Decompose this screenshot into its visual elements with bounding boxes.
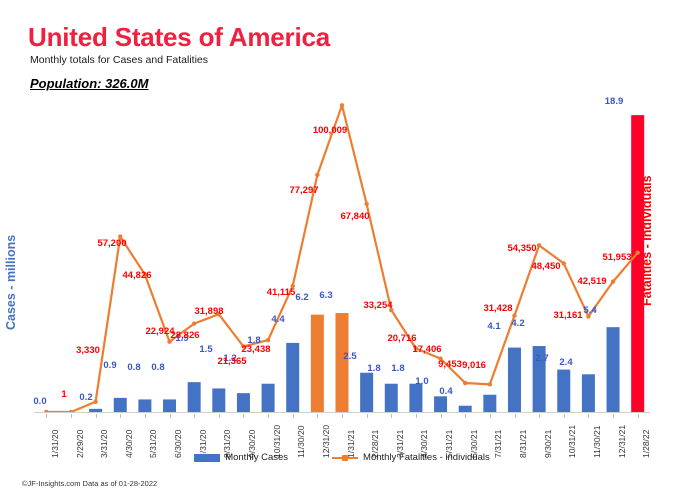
bar-12-31-20: [311, 315, 324, 412]
fatalities-value-label: 54,350: [501, 243, 543, 254]
bar-8-31-21: [508, 348, 521, 412]
x-axis-tick: [71, 414, 72, 418]
fatalities-point: [192, 321, 196, 325]
x-axis-tick: [539, 414, 540, 418]
fatalities-value-label: 42,519: [571, 276, 613, 287]
x-axis-tick: [613, 414, 614, 418]
x-axis-tick: [293, 414, 294, 418]
x-axis-tick: [243, 414, 244, 418]
bar-2-28-21: [360, 373, 373, 412]
fatalities-point: [488, 382, 492, 386]
fatalities-value-label: 21,365: [211, 356, 253, 367]
x-axis-tick: [441, 414, 442, 418]
bar-11-30-21: [582, 374, 595, 412]
cases-value-label: 4.2: [506, 318, 530, 329]
fatalities-value-label: 33,254: [357, 300, 399, 311]
cases-value-label: 6.3: [314, 290, 338, 301]
cases-value-label: 1.8: [362, 363, 386, 374]
x-axis-tick: [465, 414, 466, 418]
x-axis-tick: [367, 414, 368, 418]
bar-9-30-20: [237, 393, 250, 412]
fatalities-value-label: 44,826: [116, 270, 158, 281]
x-axis-line: [34, 412, 650, 413]
fatalities-value-label: 3,330: [67, 345, 109, 356]
bar-1-28-22: [631, 115, 644, 412]
cases-value-label: 4.1: [482, 321, 506, 332]
fatalities-value-label: 51,953: [596, 252, 638, 263]
x-axis-tick: [120, 414, 121, 418]
x-axis-tick: [170, 414, 171, 418]
fatalities-value-label: 31,161: [547, 310, 589, 321]
bar-5-31-21: [434, 396, 447, 412]
chart-page: United States of America Monthly totals …: [0, 0, 684, 496]
bar-8-31-20: [212, 388, 225, 412]
x-axis-tick: [588, 414, 589, 418]
fatalities-value-label: 57,200: [91, 238, 133, 249]
fatalities-value-label: 31,898: [188, 306, 230, 317]
cases-value-label: 0.8: [122, 362, 146, 373]
fatalities-value-label: 41,115: [260, 287, 302, 298]
cases-value-label: 0.9: [98, 360, 122, 371]
fatalities-point: [266, 338, 270, 342]
x-axis-tick: [391, 414, 392, 418]
cases-value-label: 0.4: [434, 386, 458, 397]
x-axis-tick: [564, 414, 565, 418]
x-axis-tick: [145, 414, 146, 418]
cases-value-label: 4.4: [266, 314, 290, 325]
cases-value-label: 1.0: [410, 376, 434, 387]
chart-legend: Monthly Cases Monthly Fatalities - indiv…: [0, 452, 684, 463]
fatalities-value-label: 23,438: [235, 344, 277, 355]
fatalities-value-label: 20,716: [381, 333, 423, 344]
fatalities-point: [315, 173, 319, 177]
x-axis-tick: [317, 414, 318, 418]
bar-10-31-20: [262, 384, 275, 412]
y-axis-left-title: Cases - millions: [4, 200, 18, 330]
fatalities-value-label: 9,016: [453, 360, 495, 371]
fatalities-value-label: 48,450: [525, 261, 567, 272]
footer-credit: ©JF-Insights.com Data as of 01-28-2022: [22, 479, 157, 488]
x-axis-tick: [194, 414, 195, 418]
x-axis-tick: [268, 414, 269, 418]
bar-4-30-21: [409, 384, 422, 412]
bar-5-31-20: [138, 399, 151, 412]
bar-7-31-21: [483, 395, 496, 412]
legend-item-fatalities[interactable]: Monthly Fatalities - individuals: [332, 452, 490, 463]
x-axis-tick: [96, 414, 97, 418]
x-axis-tick: [490, 414, 491, 418]
bar-3-31-21: [385, 384, 398, 412]
x-axis-tick: [416, 414, 417, 418]
bar-7-31-20: [188, 382, 201, 412]
legend-label-cases: Monthly Cases: [225, 452, 288, 463]
fatalities-point: [364, 202, 368, 206]
bar-1-31-21: [336, 313, 349, 412]
bar-12-31-21: [607, 327, 620, 412]
cases-value-label: 2.5: [338, 351, 362, 362]
cases-value-label: 0.8: [146, 362, 170, 373]
cases-value-label: 2.4: [554, 357, 578, 368]
x-axis-tick: [342, 414, 343, 418]
bar-11-30-20: [286, 343, 299, 412]
fatalities-value-label: 100,009: [309, 125, 351, 136]
fatalities-value-label: 28,826: [164, 330, 206, 341]
fatalities-value-label: 77,297: [283, 185, 325, 196]
fatalities-value-label: 31,428: [477, 303, 519, 314]
cases-value-label: 2.7: [530, 353, 554, 364]
page-title: United States of America: [28, 22, 330, 53]
x-axis-tick: [515, 414, 516, 418]
population-label: Population: 326.0M: [30, 76, 148, 91]
legend-item-cases[interactable]: Monthly Cases: [194, 452, 288, 463]
legend-bar-swatch-icon: [194, 454, 220, 462]
fatalities-point: [340, 103, 344, 107]
x-axis-tick: [46, 414, 47, 418]
x-axis-tick: [219, 414, 220, 418]
bar-10-31-21: [557, 370, 570, 412]
legend-label-fatalities: Monthly Fatalities - individuals: [363, 452, 490, 463]
fatalities-value-label: 67,840: [334, 211, 376, 222]
bar-4-30-20: [114, 398, 127, 412]
cases-value-label: 1.5: [194, 344, 218, 355]
legend-line-swatch-icon: [332, 453, 358, 463]
x-axis-tick: [638, 414, 639, 418]
fatalities-value-label: 1: [43, 389, 85, 400]
cases-value-label: 1.8: [386, 363, 410, 374]
fatalities-value-label: 17,406: [406, 344, 448, 355]
fatalities-point: [463, 381, 467, 385]
bar-6-30-20: [163, 399, 176, 412]
cases-value-label: 18.9: [602, 96, 626, 107]
page-subtitle: Monthly totals for Cases and Fatalities: [30, 54, 208, 66]
